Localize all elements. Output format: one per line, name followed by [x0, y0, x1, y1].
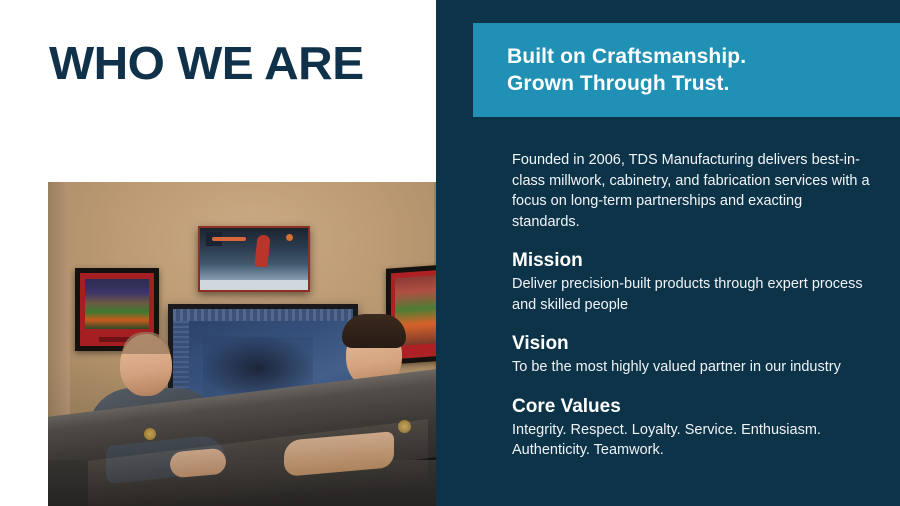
- section-body-mission: Deliver precision-built products through…: [512, 274, 872, 315]
- section-body-core-values: Integrity. Respect. Loyalty. Service. En…: [512, 420, 872, 461]
- section-body-vision: To be the most highly valued partner in …: [512, 357, 872, 378]
- tagline-banner: Built on Craftsmanship. Grown Through Tr…: [473, 23, 900, 117]
- photo-vignette: [48, 182, 472, 506]
- section-vision: Vision To be the most highly valued part…: [512, 332, 872, 378]
- tagline-line-1: Built on Craftsmanship.: [507, 43, 746, 70]
- section-mission: Mission Deliver precision-built products…: [512, 249, 872, 315]
- intro-paragraph: Founded in 2006, TDS Manufacturing deliv…: [512, 150, 872, 232]
- section-heading-vision: Vision: [512, 332, 872, 355]
- section-core-values: Core Values Integrity. Respect. Loyalty.…: [512, 395, 872, 461]
- content-column: Founded in 2006, TDS Manufacturing deliv…: [512, 150, 872, 461]
- team-photo: [48, 182, 472, 506]
- page-title: WHO WE ARE: [49, 38, 444, 88]
- section-heading-mission: Mission: [512, 249, 872, 272]
- tagline-text: Built on Craftsmanship. Grown Through Tr…: [473, 43, 746, 97]
- slide-who-we-are: WHO WE ARE: [0, 0, 900, 506]
- section-heading-core-values: Core Values: [512, 395, 872, 418]
- tagline-line-2: Grown Through Trust.: [507, 70, 746, 97]
